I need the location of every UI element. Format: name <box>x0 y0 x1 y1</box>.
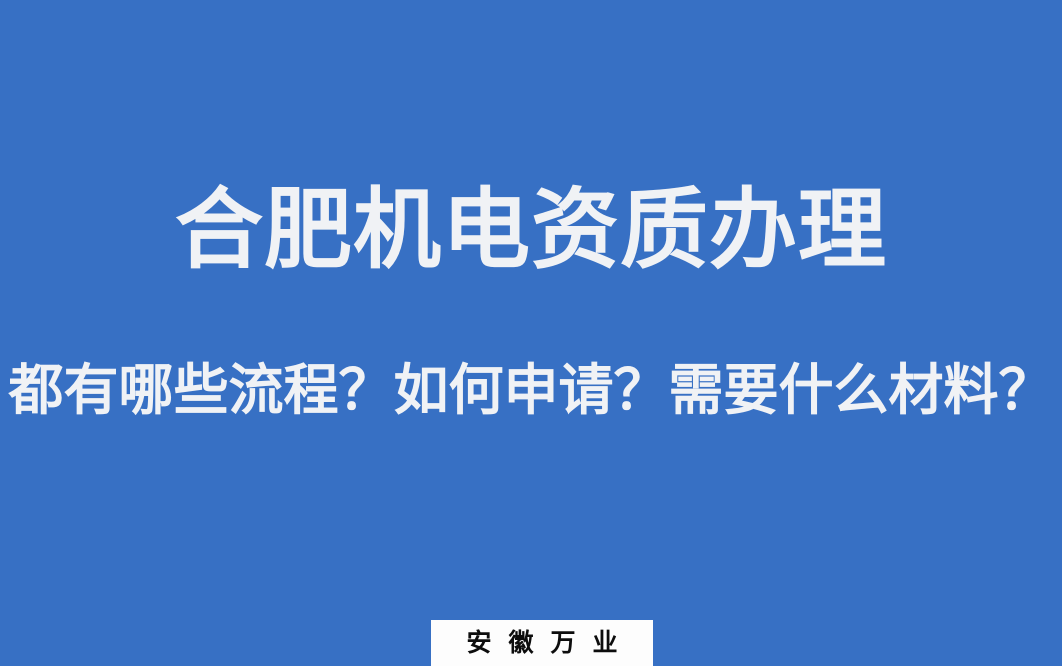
page-subtitle: 都有哪些流程？如何申请？需要什么材料？ <box>0 358 1062 422</box>
poster-canvas: 合肥机电资质办理 都有哪些流程？如何申请？需要什么材料？ 安徽万业 <box>0 0 1062 666</box>
page-title: 合肥机电资质办理 <box>0 182 1062 278</box>
headline-block: 合肥机电资质办理 都有哪些流程？如何申请？需要什么材料？ <box>0 0 1062 666</box>
brand-badge-label: 安徽万业 <box>449 628 634 658</box>
brand-badge: 安徽万业 <box>431 620 653 666</box>
